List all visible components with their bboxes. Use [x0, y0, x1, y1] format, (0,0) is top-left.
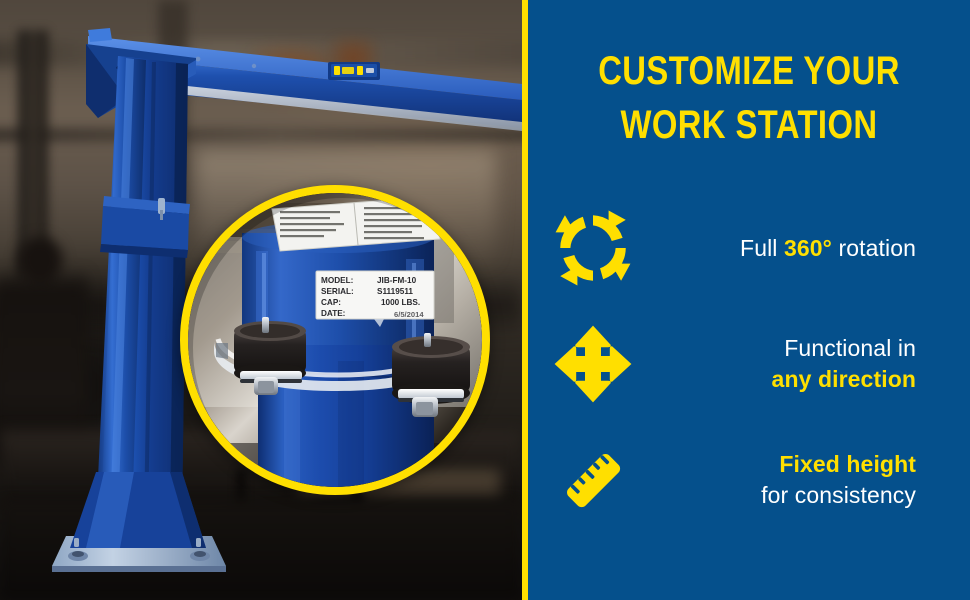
spec-row-value-model: JIB-FM-10 — [377, 276, 417, 285]
product-photo-panel: MODEL: JIB-FM-10 SERIAL: S1119511 CAP: 1… — [0, 0, 522, 600]
text-segment-plain: Functional in — [784, 335, 916, 361]
feature-info-panel: CUSTOMIZE YOUR WORK STATION — [528, 0, 970, 600]
text-segment-highlight: any direction — [772, 366, 916, 392]
feature-line-1: Full 360° rotation — [658, 233, 916, 264]
text-segment-plain: for consistency — [761, 482, 916, 508]
feature-line-1: Functional in — [658, 333, 916, 364]
rotation-arrows-icon — [528, 209, 658, 287]
spec-row-value-cap: 1000 LBS. — [381, 298, 420, 307]
feature-item-direction: Functional in any direction — [528, 306, 970, 422]
text-segment-highlight: Fixed height — [779, 451, 916, 477]
headline-line-2: WORK STATION — [568, 98, 930, 152]
spec-row-value-serial: S1119511 — [377, 287, 413, 296]
rotation-collar-closeup: MODEL: JIB-FM-10 SERIAL: S1119511 CAP: 1… — [188, 193, 482, 487]
spec-row-key-cap: CAP: — [321, 298, 341, 307]
text-segment-plain: rotation — [832, 235, 916, 261]
feature-text-height: Fixed height for consistency — [658, 449, 970, 511]
four-way-arrows-icon — [528, 324, 658, 404]
detail-magnifier-circle: MODEL: JIB-FM-10 SERIAL: S1119511 CAP: 1… — [180, 185, 490, 495]
feature-item-height: Fixed height for consistency — [528, 422, 970, 538]
text-segment-plain: Full — [740, 235, 784, 261]
spec-row-key-serial: SERIAL: — [321, 287, 354, 296]
spec-row-key-model: MODEL: — [321, 276, 353, 285]
page-title: CUSTOMIZE YOUR WORK STATION — [568, 44, 930, 152]
feature-text-rotation: Full 360° rotation — [658, 233, 970, 264]
headline-line-1: CUSTOMIZE YOUR — [568, 44, 930, 98]
ruler-icon — [528, 440, 658, 520]
feature-line-2: any direction — [658, 364, 916, 395]
product-spec-label: MODEL: JIB-FM-10 SERIAL: S1119511 CAP: 1… — [316, 271, 434, 319]
spec-row-value-date: 6/5/2014 — [394, 310, 424, 319]
feature-line-2: for consistency — [658, 480, 916, 511]
text-segment-highlight: 360° — [784, 235, 832, 261]
feature-text-direction: Functional in any direction — [658, 333, 970, 395]
feature-line-1: Fixed height — [658, 449, 916, 480]
feature-list: Full 360° rotation — [528, 190, 970, 538]
spec-row-key-date: DATE: — [321, 309, 345, 318]
promo-banner: MODEL: JIB-FM-10 SERIAL: S1119511 CAP: 1… — [0, 0, 970, 600]
feature-item-rotation: Full 360° rotation — [528, 190, 970, 306]
